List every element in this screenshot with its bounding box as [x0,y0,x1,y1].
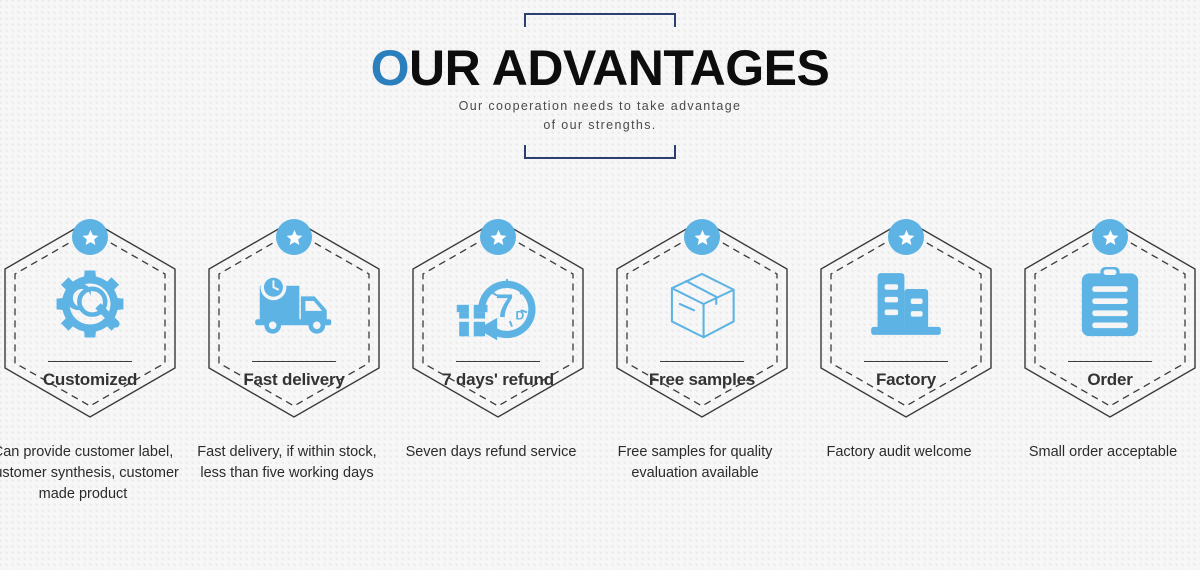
star-badge [72,219,108,255]
hexagon-frame: Customized [2,217,178,420]
star-icon [897,228,916,247]
advantage-description: Factory audit welcome [797,442,1001,463]
clipboard-order-icon [1078,267,1142,341]
advantage-card[interactable]: Free samples Free samples for quality ev… [614,217,790,484]
hexagon-frame: Factory [818,217,994,420]
label-divider [456,361,540,362]
advantage-label: Factory [876,370,936,390]
label-divider [1068,361,1152,362]
refund-days-number: 7 [495,288,513,324]
advantage-description: Fast delivery, if within stock, less tha… [185,442,389,484]
star-icon [489,228,508,247]
advantage-description: Can provide customer label, customer syn… [0,442,185,505]
hexagon-frame: 7 D 7 days' refund [410,217,586,420]
hexagon-frame: Fast delivery [206,217,382,420]
advantages-card-list: Customized Can provide customer label, c… [0,217,1200,505]
seven-day-refund-gift-icon: 7 D [455,266,541,342]
star-icon [285,228,304,247]
page-header: OUR ADVANTAGES Our cooperation needs to … [0,0,1200,172]
advantage-icon-box [869,249,943,359]
decorative-bracket-bottom [524,145,676,159]
star-badge [888,219,924,255]
advantage-label: 7 days' refund [442,370,554,390]
star-icon [1101,228,1120,247]
advantage-icon-box [252,249,336,359]
advantage-label: Free samples [649,370,755,390]
advantage-label: Customized [43,370,137,390]
label-divider [864,361,948,362]
star-badge [276,219,312,255]
advantage-label: Fast delivery [243,370,344,390]
advantage-card[interactable]: 7 D 7 days' refund Seve [410,217,586,463]
advantage-icon-box: 7 D [455,249,541,359]
advantage-description: Free samples for quality evaluation avai… [593,442,797,484]
advantage-card[interactable]: Order Small order acceptable [1022,217,1198,463]
star-icon [693,228,712,247]
advantage-icon-box [1078,249,1142,359]
page-subtitle-line-1: Our cooperation needs to take advantage [0,97,1200,116]
star-badge [480,219,516,255]
advantage-icon-box [52,249,128,359]
hexagon-frame: Order [1022,217,1198,420]
page-title-accent-letter: O [371,40,409,96]
package-box-icon [662,266,742,342]
star-icon [81,228,100,247]
advantage-card[interactable]: Customized Can provide customer label, c… [2,217,178,505]
decorative-bracket-top [524,13,676,27]
advantage-card[interactable]: Factory Factory audit welcome [818,217,994,463]
page-subtitle: Our cooperation needs to take advantage … [0,97,1200,135]
advantage-card[interactable]: Fast delivery Fast delivery, if within s… [206,217,382,484]
advantage-label: Order [1087,370,1132,390]
advantage-description: Seven days refund service [389,442,593,463]
label-divider [48,361,132,362]
gear-search-icon [52,266,128,342]
label-divider [252,361,336,362]
factory-buildings-icon [869,270,943,338]
page-subtitle-line-2: of our strengths. [0,116,1200,135]
delivery-truck-clock-icon [252,269,336,339]
hexagon-frame: Free samples [614,217,790,420]
page-title: OUR ADVANTAGES [0,40,1200,96]
label-divider [660,361,744,362]
refund-days-unit: D [515,308,524,322]
advantage-description: Small order acceptable [1001,442,1200,463]
star-badge [684,219,720,255]
advantage-icon-box [662,249,742,359]
page-title-rest: UR ADVANTAGES [409,40,829,96]
star-badge [1092,219,1128,255]
